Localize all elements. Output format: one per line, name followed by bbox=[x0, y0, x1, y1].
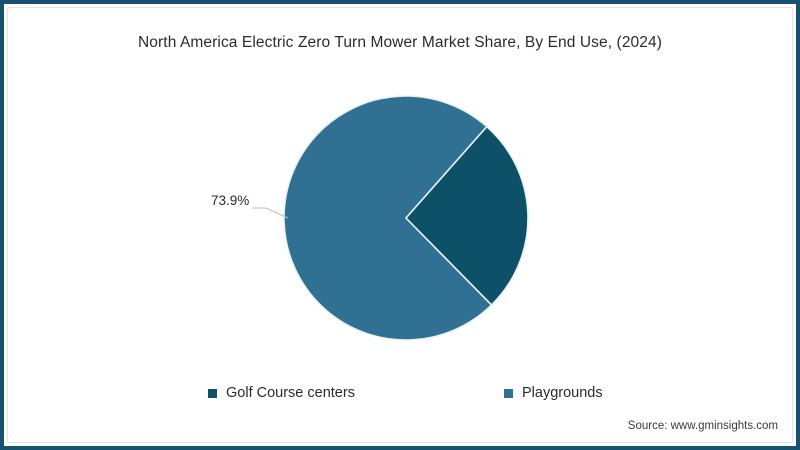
legend-item-label: Playgrounds bbox=[522, 385, 603, 401]
legend-item-golf-course-centers[interactable]: Golf Course centers bbox=[208, 385, 355, 401]
legend: Golf Course centers Playgrounds bbox=[4, 385, 796, 407]
pie-chart-svg bbox=[284, 96, 528, 340]
source-note: Source: www.gminsights.com bbox=[628, 420, 778, 432]
legend-item-label: Golf Course centers bbox=[226, 385, 355, 401]
pie-chart bbox=[284, 96, 528, 340]
square-swatch-icon bbox=[208, 389, 217, 398]
pie-data-label-playgrounds: 73.9% bbox=[211, 193, 249, 208]
leader-line-icon bbox=[252, 206, 288, 220]
square-swatch-icon bbox=[504, 389, 513, 398]
page-title: North America Electric Zero Turn Mower M… bbox=[4, 34, 796, 52]
legend-item-playgrounds[interactable]: Playgrounds bbox=[504, 385, 603, 401]
chart-card: North America Electric Zero Turn Mower M… bbox=[0, 0, 800, 450]
